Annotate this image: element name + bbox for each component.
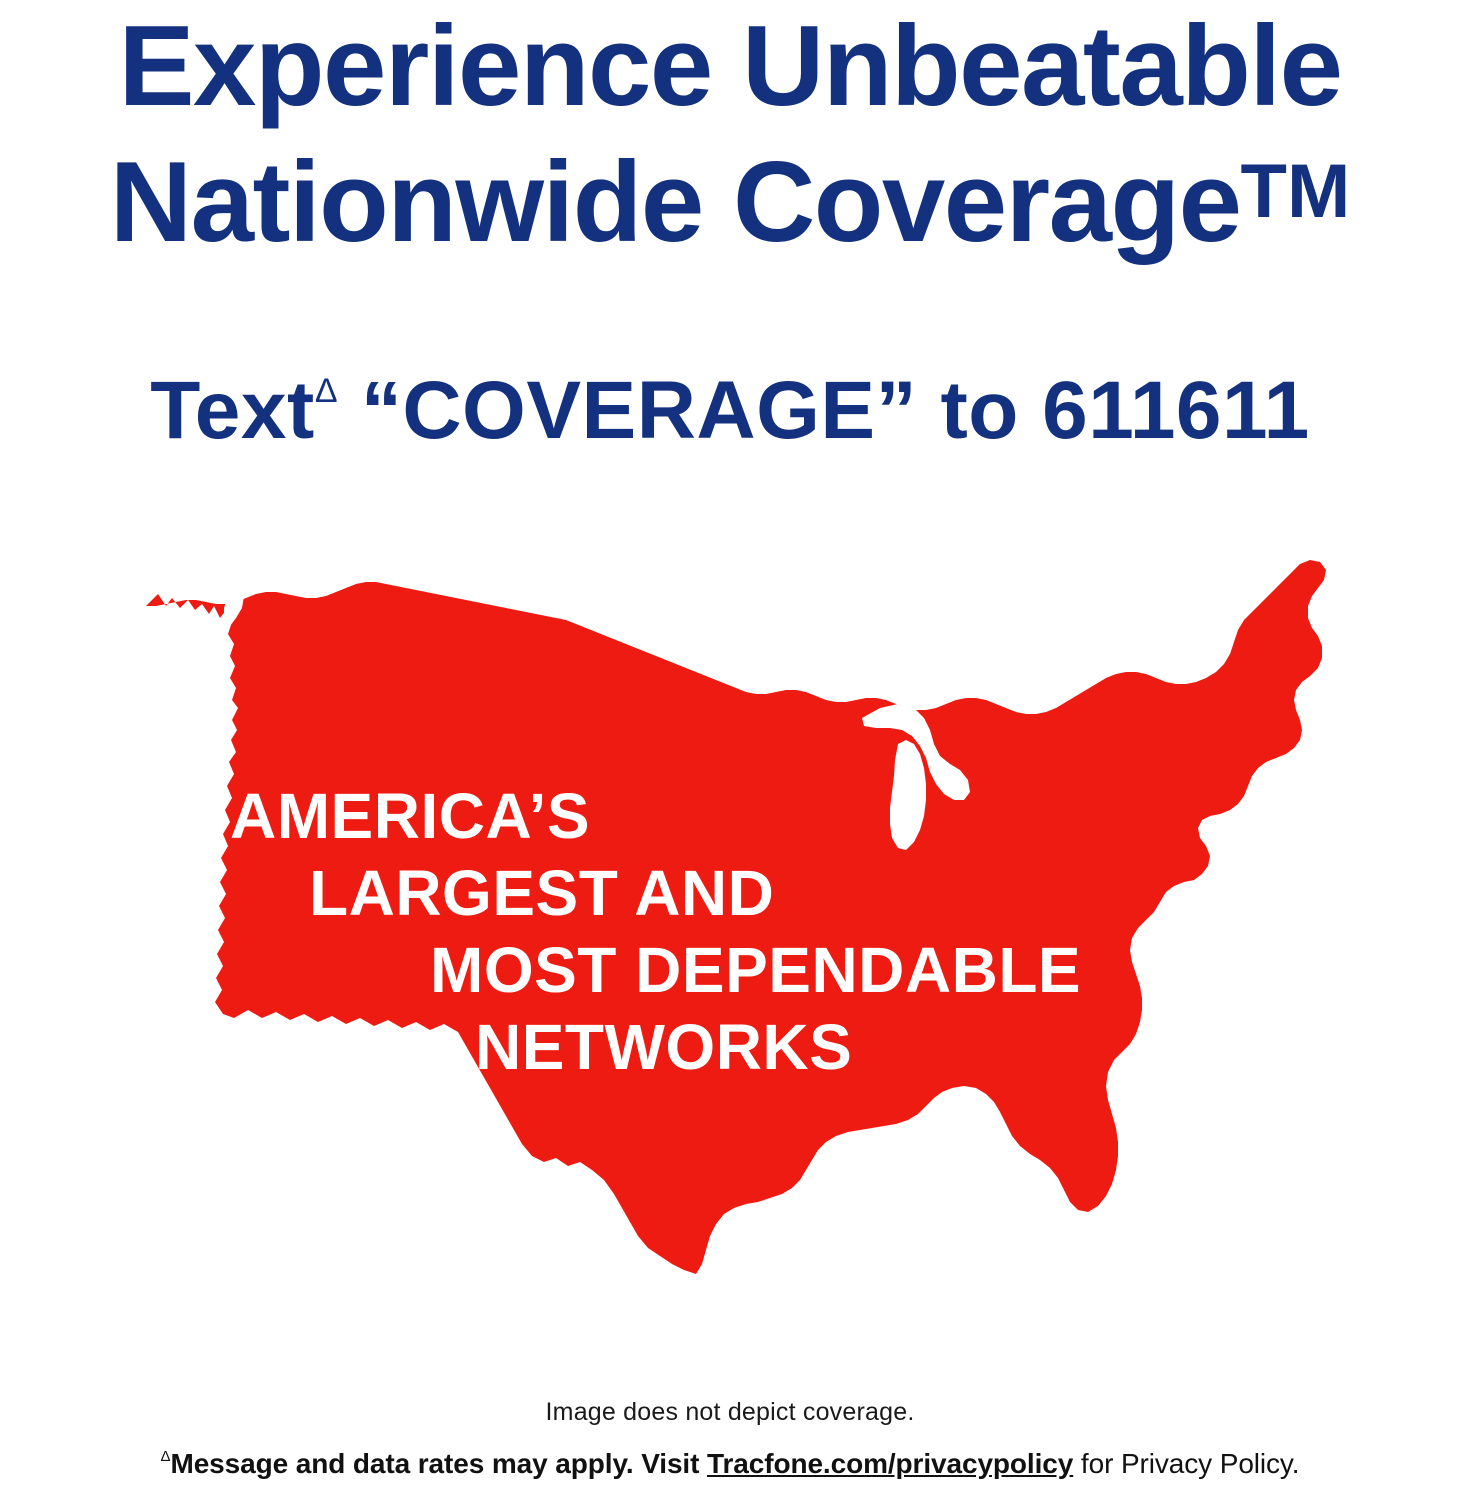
- trademark-icon: TM: [1241, 149, 1351, 234]
- headline-block: Experience Unbeatable Nationwide Coverag…: [0, 0, 1460, 265]
- subheadline-prefix: Text: [150, 365, 315, 456]
- headline-line-2-text: Nationwide Coverage: [110, 139, 1241, 266]
- legal-text-before-link: Message and data rates may apply. Visit: [170, 1448, 707, 1479]
- subheadline-cta: TextΔ “COVERAGE” to 611611: [0, 343, 1460, 459]
- legal-footnote: ΔMessage and data rates may apply. Visit…: [0, 1448, 1460, 1480]
- chesapeake-bay-cutout: [1178, 914, 1200, 944]
- delta-footnote-marker-icon: Δ: [315, 372, 338, 410]
- headline-line-2: Nationwide CoverageTM: [0, 129, 1460, 265]
- usa-landmass-path: [146, 560, 1326, 1274]
- subheadline-keyword: “COVERAGE”: [361, 365, 917, 456]
- legal-delta-marker-icon: Δ: [161, 1448, 171, 1465]
- usa-map-svg: [62, 548, 1332, 1348]
- headline-line-1: Experience Unbeatable: [0, 0, 1460, 129]
- subheadline-connector: to: [940, 365, 1018, 456]
- coverage-map: [62, 548, 1332, 1348]
- subheadline-shortcode: 611611: [1042, 365, 1310, 456]
- privacy-policy-link[interactable]: Tracfone.com/privacypolicy: [707, 1448, 1073, 1479]
- legal-text-after-link: for Privacy Policy.: [1073, 1448, 1299, 1479]
- image-disclaimer: Image does not depict coverage.: [0, 1398, 1460, 1427]
